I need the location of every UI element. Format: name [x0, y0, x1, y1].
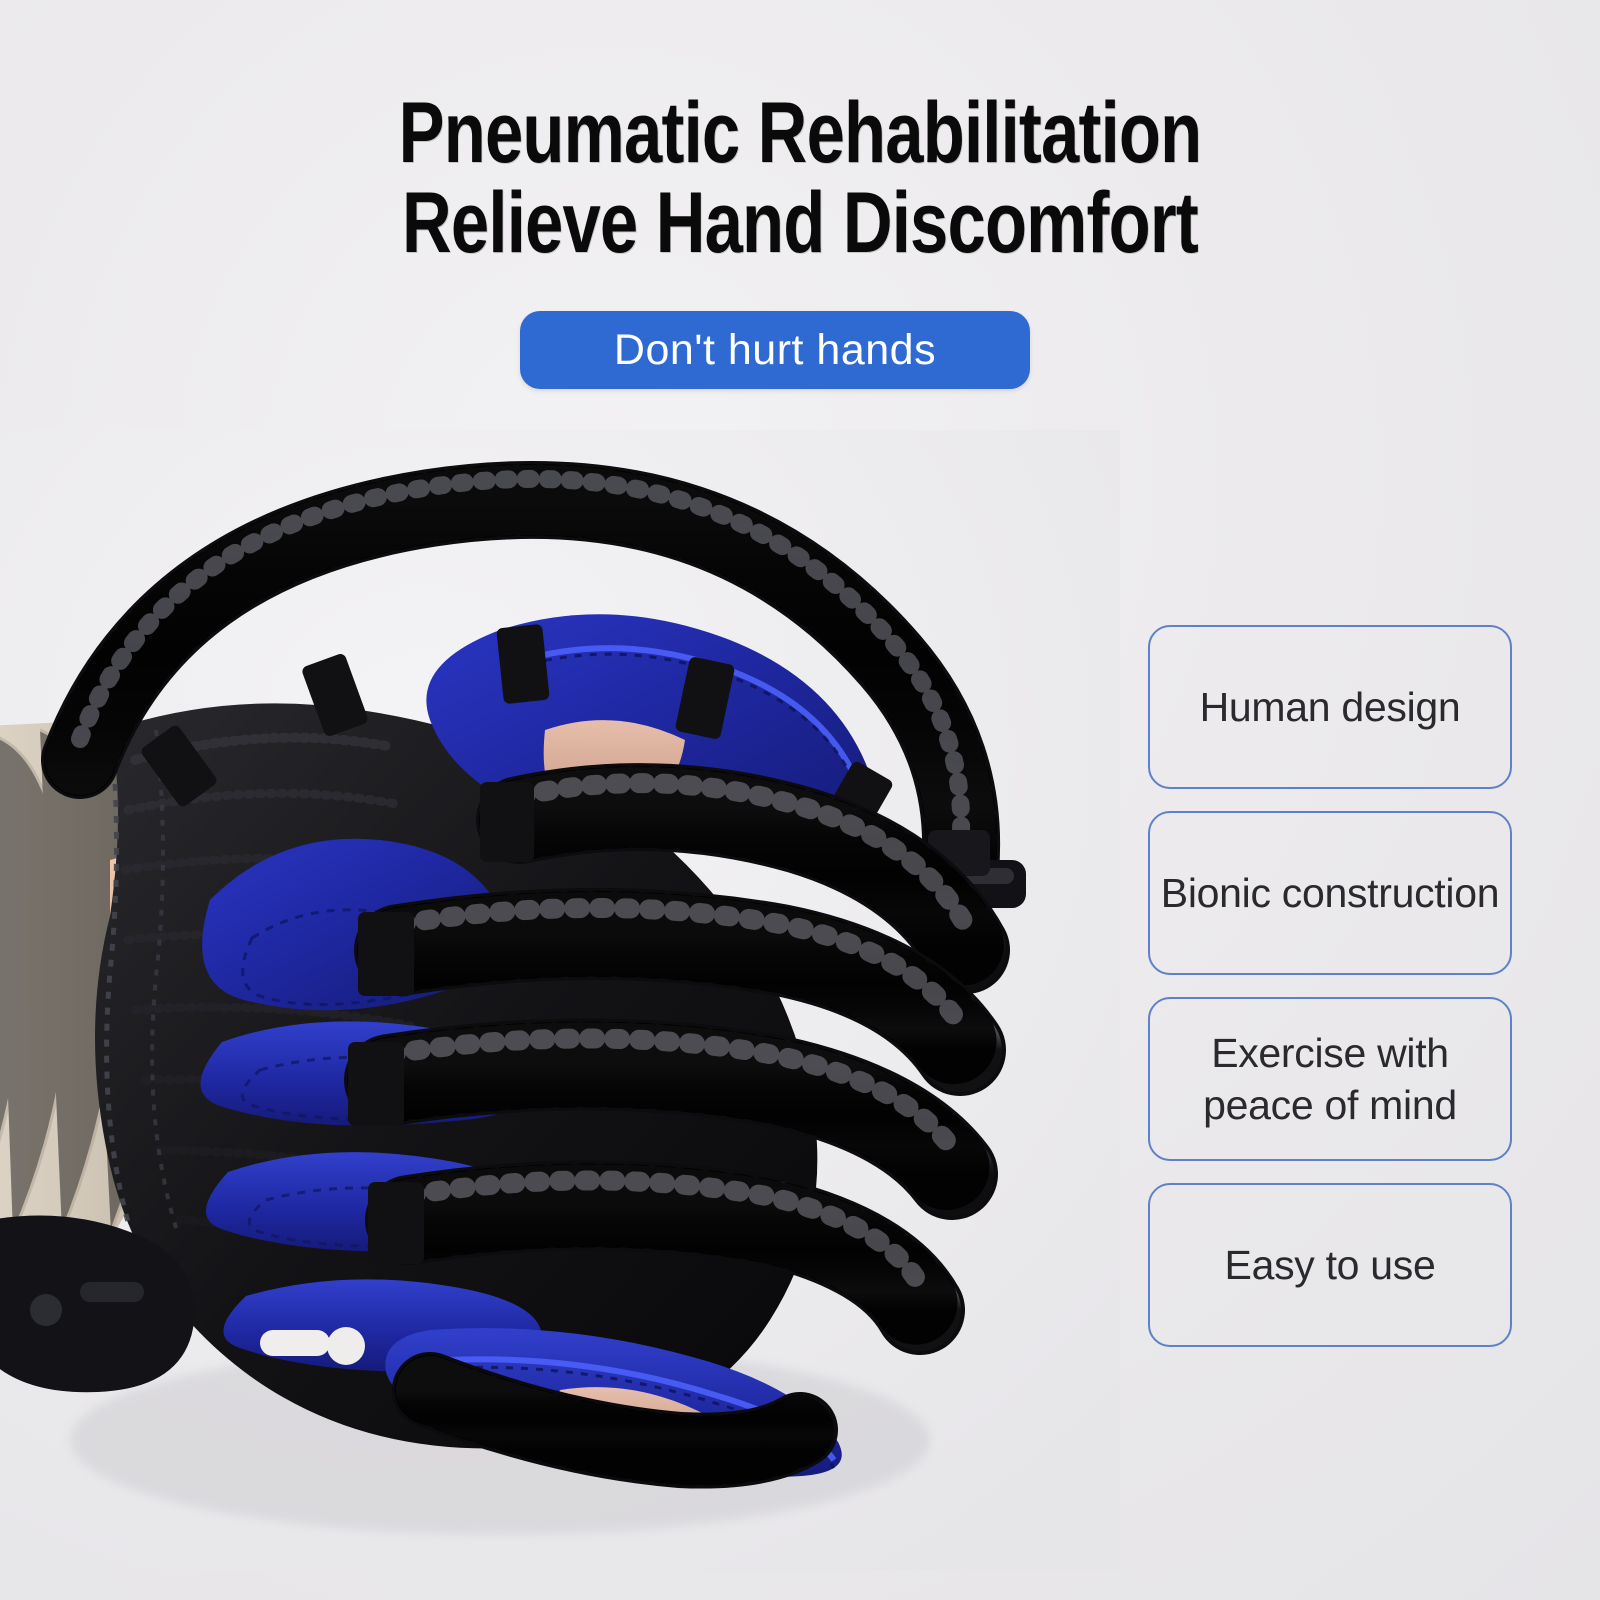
feature-box-human-design: Human design: [1148, 625, 1512, 789]
feature-box-easy-to-use: Easy to use: [1148, 1183, 1512, 1347]
feature-label: Exercise with peace of mind: [1150, 1027, 1510, 1131]
feature-label: Bionic construction: [1155, 867, 1505, 919]
tagline-badge-label: Don't hurt hands: [614, 326, 936, 375]
feature-label: Human design: [1194, 681, 1467, 733]
product-marketing-image: Pneumatic Rehabilitation Relieve Hand Di…: [0, 0, 1600, 1600]
feature-label: Easy to use: [1219, 1239, 1442, 1291]
feature-box-bionic-construction: Bionic construction: [1148, 811, 1512, 975]
headline-line-2: Relieve Hand Discomfort: [160, 178, 1440, 268]
feature-box-exercise-peace-of-mind: Exercise with peace of mind: [1148, 997, 1512, 1161]
page-title: Pneumatic Rehabilitation Relieve Hand Di…: [0, 88, 1600, 268]
feature-list: Human design Bionic construction Exercis…: [1148, 625, 1530, 1369]
headline-line-1: Pneumatic Rehabilitation: [160, 88, 1440, 178]
product-photo: [0, 430, 1120, 1570]
tagline-badge: Don't hurt hands: [520, 311, 1030, 389]
